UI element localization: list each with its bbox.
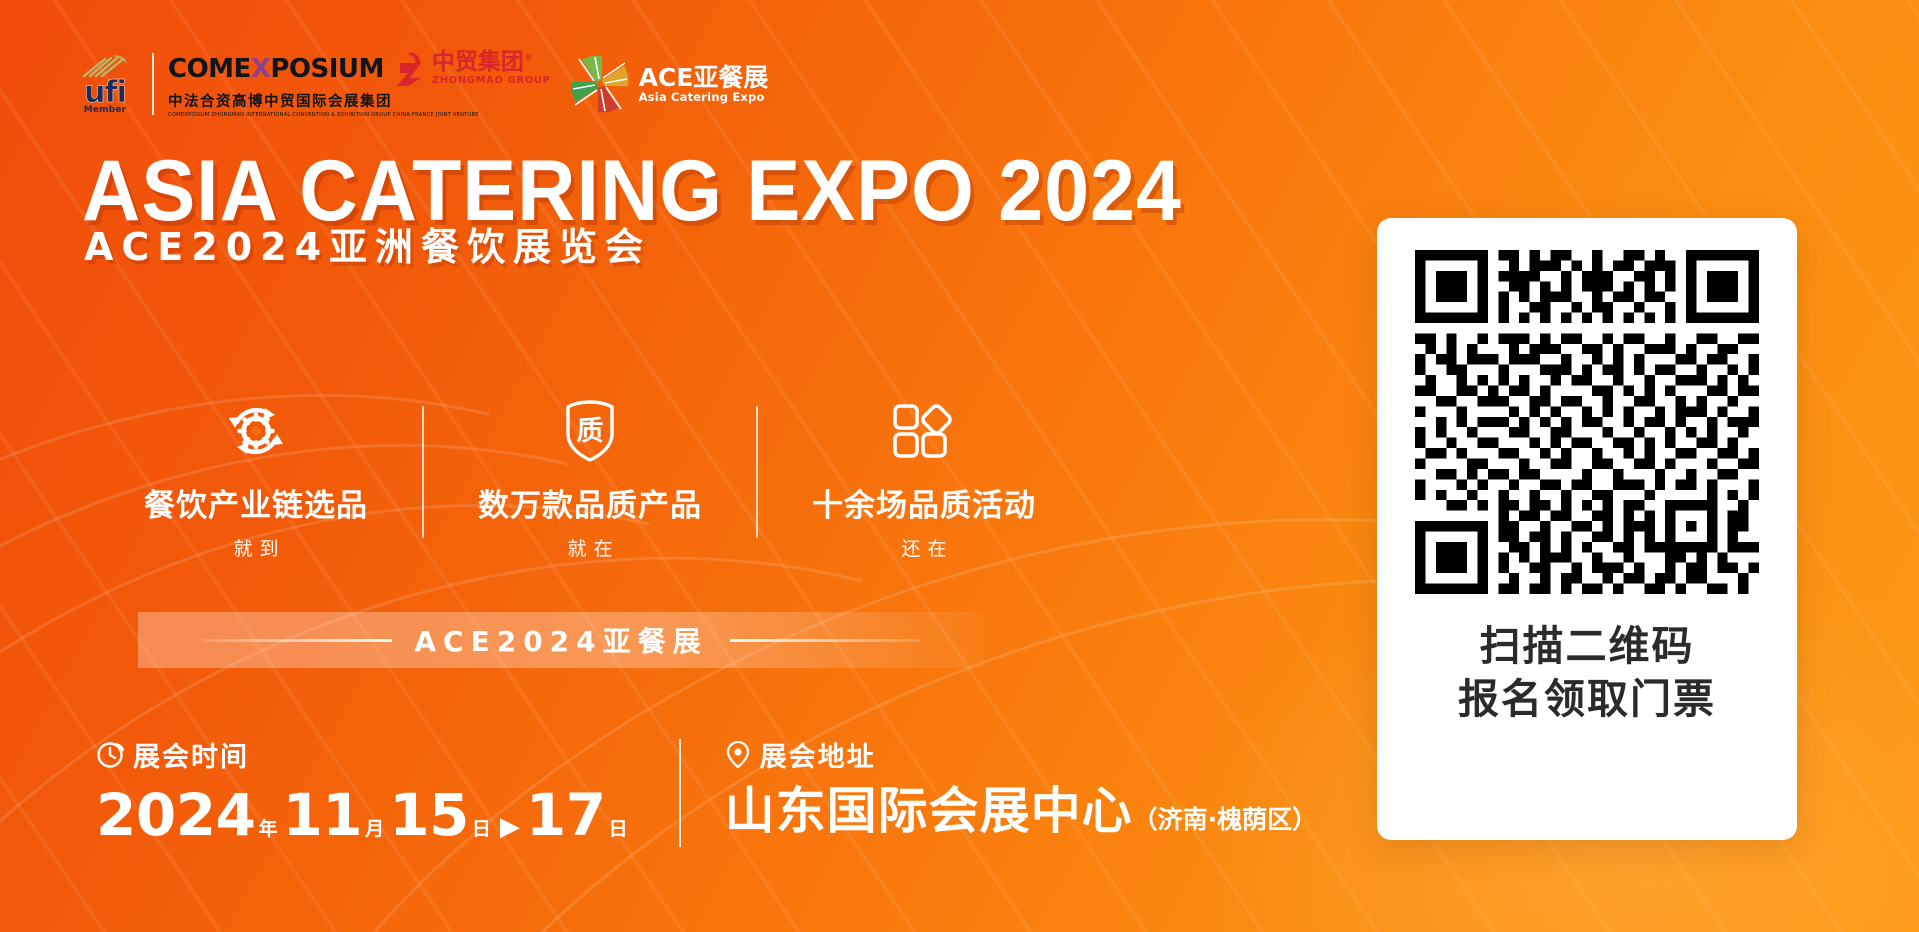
feature-list: 餐饮产业链选品 就到 质 数万款品质产品 就在: [90, 400, 1090, 560]
ace-band: ACE2024亚餐展: [138, 612, 984, 668]
date-day-end-unit: 日: [609, 820, 628, 839]
date-range-arrow-icon: ▶: [500, 814, 520, 840]
comex-word-left: COME: [168, 54, 251, 84]
ace-pinwheel-icon: [569, 53, 631, 115]
zhongmao-name-en: ZHONGMAO GROUP: [432, 76, 551, 86]
qr-caption: 扫描二维码 报名领取门票: [1458, 620, 1716, 727]
ace-name-cn: ACE亚餐展: [639, 65, 769, 90]
date-value: 2024 年 11 月 15 日 ▶ 17 日: [96, 786, 633, 844]
feature-title: 十余场品质活动: [812, 480, 1036, 525]
zhongmao-logo: 中贸集团® ZHONGMAO GROUP: [394, 51, 551, 87]
comex-word-x: X: [251, 54, 271, 84]
qr-registration-card[interactable]: 扫描二维码 报名领取门票: [1377, 218, 1797, 840]
shield-quality-icon: 质: [559, 398, 621, 464]
date-day-start: 15: [389, 786, 469, 844]
registered-mark: ®: [524, 53, 533, 63]
date-heading: 展会时间: [96, 735, 633, 774]
qr-code-icon[interactable]: [1415, 250, 1759, 594]
feature-subtitle: 就到: [226, 534, 285, 561]
feature-icon-wrap: [225, 400, 287, 462]
zhongmao-text: 中贸集团® ZHONGMAO GROUP: [432, 51, 551, 86]
ace-name-en: Asia Catering Expo: [639, 92, 769, 104]
band-text: ACE2024亚餐展: [414, 620, 707, 660]
venue-block: 展会地址 山东国际会展中心 （济南·槐荫区）: [725, 735, 1318, 836]
feature-icon-wrap: 质: [559, 400, 621, 462]
band-line-right: [730, 639, 920, 642]
feature-subtitle: 就在: [560, 534, 619, 561]
feature-item-quality-products: 质 数万款品质产品 就在: [424, 400, 756, 561]
ace-text: ACE亚餐展 Asia Catering Expo: [639, 65, 769, 104]
comex-word-right: POSIUM: [270, 54, 384, 84]
ufi-logo: ufi Member: [72, 53, 138, 115]
logo-bar: ufi Member COMEXPOSIUM 中贸集团® ZHONGMAO GR…: [72, 42, 768, 126]
feature-subtitle: 还在: [894, 534, 953, 561]
venue-value: 山东国际会展中心 （济南·槐荫区）: [725, 786, 1318, 836]
ufi-member-label: Member: [84, 105, 127, 115]
date-label: 展会时间: [133, 735, 249, 774]
ufi-wordmark: ufi: [84, 79, 126, 106]
location-pin-icon: [725, 740, 751, 770]
headline-english: ASIA CATERING EXPO 2024: [82, 148, 1182, 236]
zhongmao-cn-chars: 中贸集团: [432, 49, 524, 75]
zhongmao-dragon-icon: [394, 51, 428, 87]
comexposium-subtitle-cn: 中法合资高博中贸国际会展集团: [168, 90, 392, 111]
feature-title: 数万款品质产品: [478, 480, 702, 525]
venue-heading: 展会地址: [725, 735, 1318, 774]
date-year-unit: 年: [258, 820, 277, 839]
svg-text:质: 质: [577, 416, 604, 447]
date-day-end: 17: [526, 786, 606, 844]
comexposium-row: COMEXPOSIUM 中贸集团® ZHONGMAO GROUP: [168, 51, 551, 87]
feature-icon-wrap: [890, 400, 958, 462]
band-line-left: [202, 639, 392, 642]
venue-district: （济南·槐荫区）: [1133, 807, 1318, 832]
diamond-squares-icon: [890, 400, 958, 462]
date-block: 展会时间 2024 年 11 月 15 日 ▶ 17 日: [96, 735, 633, 844]
info-separator: [679, 739, 681, 847]
comexposium-wordmark: COMEXPOSIUM: [168, 56, 384, 82]
venue-label: 展会地址: [760, 735, 876, 774]
feature-item-supply-chain: 餐饮产业链选品 就到: [90, 400, 422, 561]
headline-chinese: ACE2024亚洲餐饮展览会: [84, 228, 651, 266]
qr-caption-line2: 报名领取门票: [1458, 673, 1716, 726]
venue-name: 山东国际会展中心: [725, 786, 1133, 836]
logo-divider: [152, 53, 154, 115]
qr-caption-line1: 扫描二维码: [1458, 620, 1716, 673]
feature-item-quality-events: 十余场品质活动 还在: [758, 400, 1090, 561]
zhongmao-name-cn: 中贸集团®: [432, 51, 551, 74]
date-day-unit: 日: [472, 820, 491, 839]
date-month: 11: [282, 786, 362, 844]
comexposium-logo: COMEXPOSIUM 中贸集团® ZHONGMAO GROUP 中法合资高博中…: [168, 51, 551, 118]
promo-banner: ufi Member COMEXPOSIUM 中贸集团® ZHONGMAO GR…: [0, 0, 1919, 932]
clock-icon: [96, 741, 124, 769]
gear-cycle-icon: [225, 400, 287, 462]
feature-title: 餐饮产业链选品: [144, 480, 368, 525]
info-row: 展会时间 2024 年 11 月 15 日 ▶ 17 日 展会地址: [96, 735, 1317, 847]
comexposium-subtitle-en: COMEXPOSIUM ZHONGMAO INTERNATIONAL CONVE…: [168, 112, 479, 118]
date-year: 2024: [96, 786, 255, 844]
ace-logo: ACE亚餐展 Asia Catering Expo: [569, 53, 769, 115]
date-month-unit: 月: [365, 820, 384, 839]
